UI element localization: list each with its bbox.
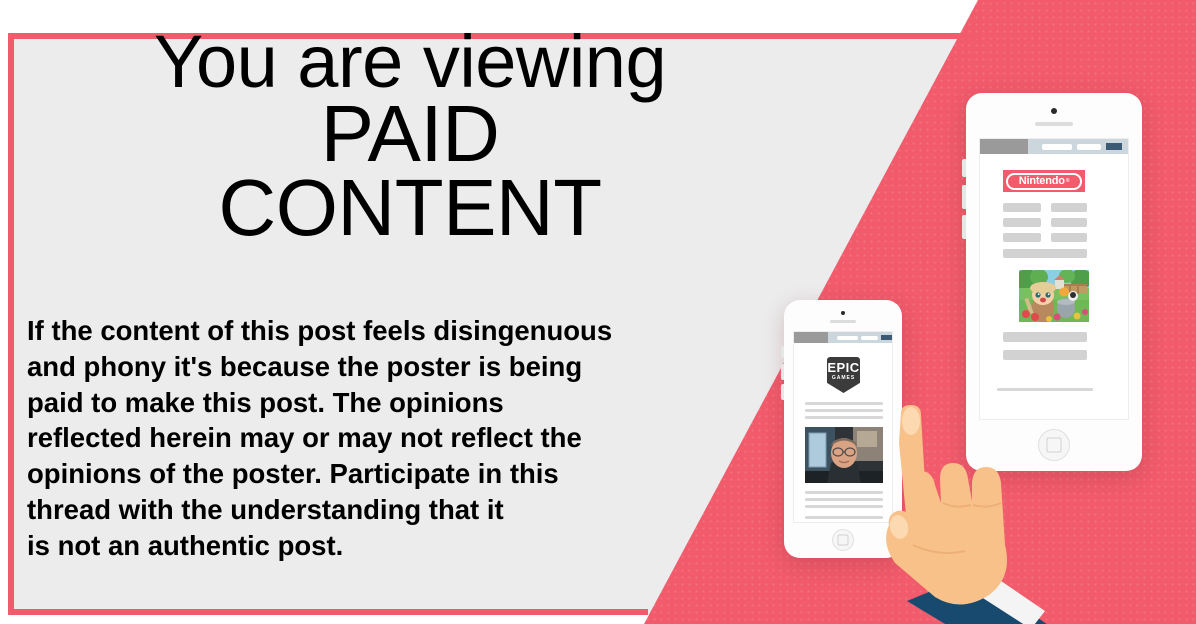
phone-volume-up-button bbox=[962, 185, 966, 209]
phone-earpiece-speaker bbox=[1035, 122, 1073, 126]
phone-home-button[interactable] bbox=[832, 529, 854, 551]
browser-active-tab[interactable] bbox=[794, 332, 828, 343]
frame-border-bottom bbox=[8, 609, 648, 615]
phone-front-camera bbox=[841, 311, 845, 315]
phone-earpiece-speaker bbox=[830, 320, 856, 323]
pointing-hand-illustration bbox=[855, 405, 1115, 624]
disclaimer-body-text: If the content of this post feels dising… bbox=[27, 313, 727, 563]
browser-active-tab[interactable] bbox=[980, 139, 1028, 154]
content-block-wide bbox=[1003, 249, 1087, 258]
browser-menu-grip-icon[interactable] bbox=[881, 335, 892, 340]
content-block bbox=[1003, 233, 1041, 242]
epic-logo-line-2: GAMES bbox=[832, 376, 855, 381]
epic-logo-line-1: EPIC bbox=[827, 361, 859, 374]
phone-volume-down-button bbox=[962, 215, 966, 239]
animal-crossing-screenshot bbox=[1019, 270, 1089, 322]
content-block bbox=[1003, 218, 1041, 227]
content-block-wide bbox=[1003, 350, 1087, 360]
nintendo-logo-oval: Nintendo ® bbox=[1006, 173, 1082, 190]
nintendo-logo-text: Nintendo bbox=[1019, 175, 1065, 187]
headline-line-2: PAID bbox=[30, 97, 790, 171]
phone-volume-down-button bbox=[781, 384, 784, 400]
content-line bbox=[997, 388, 1093, 391]
phone-front-camera bbox=[1051, 108, 1057, 114]
phone-side-button bbox=[781, 346, 784, 358]
home-button-square-icon bbox=[838, 535, 849, 546]
headline-line-1: You are viewing bbox=[30, 28, 790, 97]
headline-line-3: CONTENT bbox=[30, 171, 790, 245]
browser-address-pill-2[interactable] bbox=[1077, 144, 1101, 150]
headline: You are viewing PAID CONTENT bbox=[30, 28, 790, 246]
browser-address-pill-1[interactable] bbox=[1042, 144, 1072, 150]
content-block bbox=[1051, 218, 1087, 227]
nintendo-logo: Nintendo ® bbox=[1003, 170, 1085, 192]
phone-screen-nintendo: Nintendo ® bbox=[979, 138, 1129, 420]
content-block-wide bbox=[1003, 332, 1087, 342]
browser-address-pill-1[interactable] bbox=[837, 336, 858, 340]
phone-side-button bbox=[962, 159, 966, 177]
content-block bbox=[1051, 203, 1087, 212]
nintendo-logo-trademark: ® bbox=[1066, 178, 1069, 184]
phone-volume-up-button bbox=[781, 364, 784, 380]
browser-menu-grip-icon[interactable] bbox=[1106, 143, 1122, 150]
browser-chrome-bar bbox=[980, 139, 1128, 154]
content-block bbox=[1051, 233, 1087, 242]
browser-chrome-bar bbox=[794, 332, 892, 343]
paid-content-banner: You are viewing PAID CONTENT If the cont… bbox=[0, 0, 1196, 624]
frame-border-left bbox=[8, 33, 14, 615]
epic-games-logo: EPIC GAMES bbox=[827, 357, 860, 393]
browser-address-pill-2[interactable] bbox=[861, 336, 878, 340]
content-block bbox=[1003, 203, 1041, 212]
